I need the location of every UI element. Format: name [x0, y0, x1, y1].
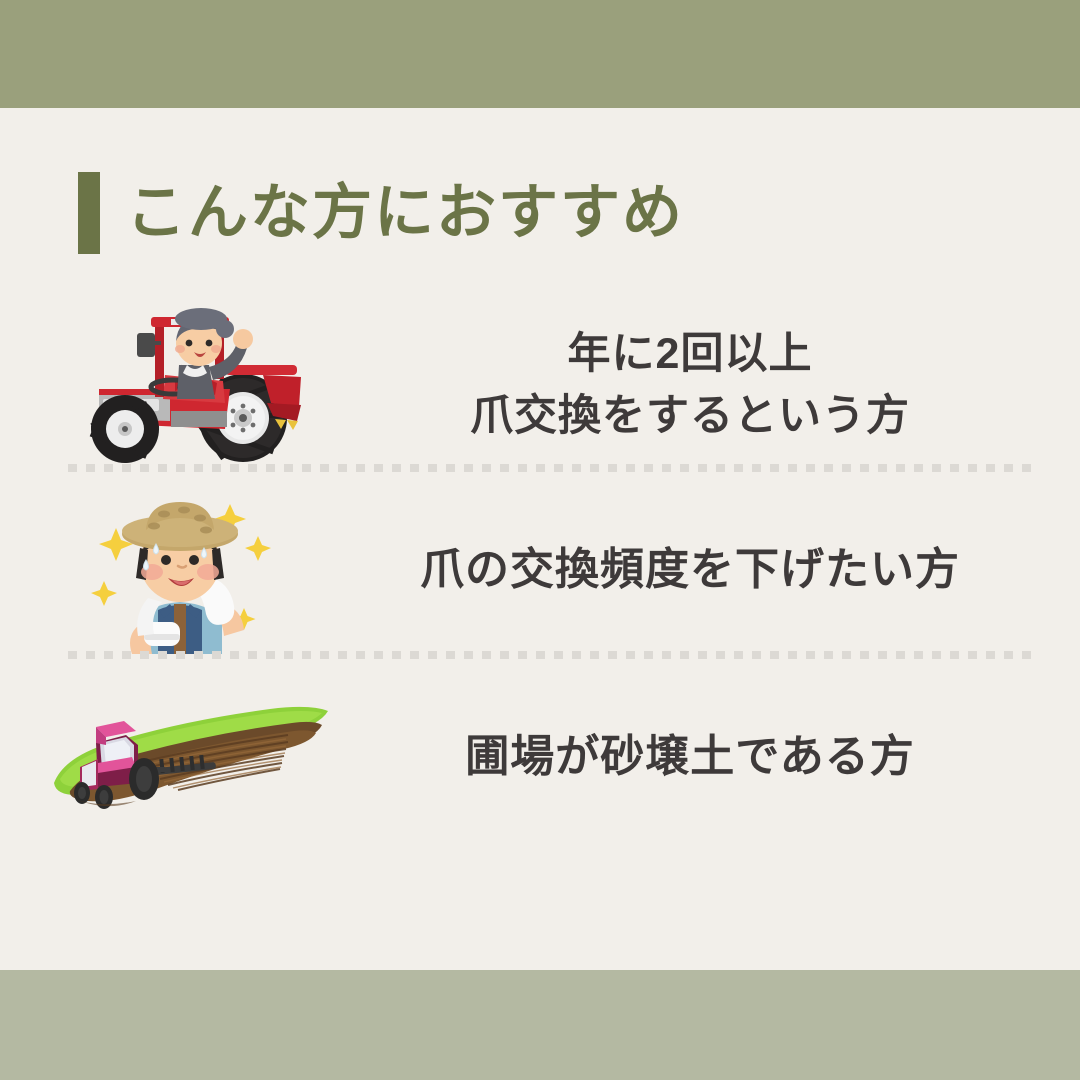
recommend-row-line: 年に2回以上 — [340, 323, 1040, 385]
recommend-row: 圃場が砂壌土である方 — [40, 672, 1040, 842]
recommend-row-text: 年に2回以上 爪交換をするという方 — [340, 323, 1040, 448]
page-heading: こんな方におすすめ — [78, 172, 684, 254]
red-tractor-with-waving-farmer-icon — [40, 303, 340, 468]
recommend-row-text: 圃場が砂壌土である方 — [340, 725, 1040, 789]
heading-title: こんな方におすすめ — [126, 183, 684, 243]
tractor-tilling-field-icon — [40, 687, 340, 827]
smiling-farmer-with-straw-hat-icon — [40, 486, 340, 654]
row-divider — [68, 651, 1040, 659]
recommend-row-line: 爪交換をするという方 — [340, 385, 1040, 447]
recommend-row-text: 爪の交換頻度を下げたい方 — [340, 538, 1040, 602]
row-divider — [68, 464, 1040, 472]
recommend-row-line: 爪の交換頻度を下げたい方 — [340, 538, 1040, 602]
heading-accent-bar — [78, 172, 100, 254]
top-color-band — [0, 0, 1080, 108]
bottom-color-band — [0, 970, 1080, 1080]
recommend-row: 年に2回以上 爪交換をするという方 — [40, 300, 1040, 470]
recommend-row: 爪の交換頻度を下げたい方 — [40, 485, 1040, 655]
recommend-row-line: 圃場が砂壌土である方 — [340, 725, 1040, 789]
poster-root: こんな方におすすめ — [0, 0, 1080, 1080]
